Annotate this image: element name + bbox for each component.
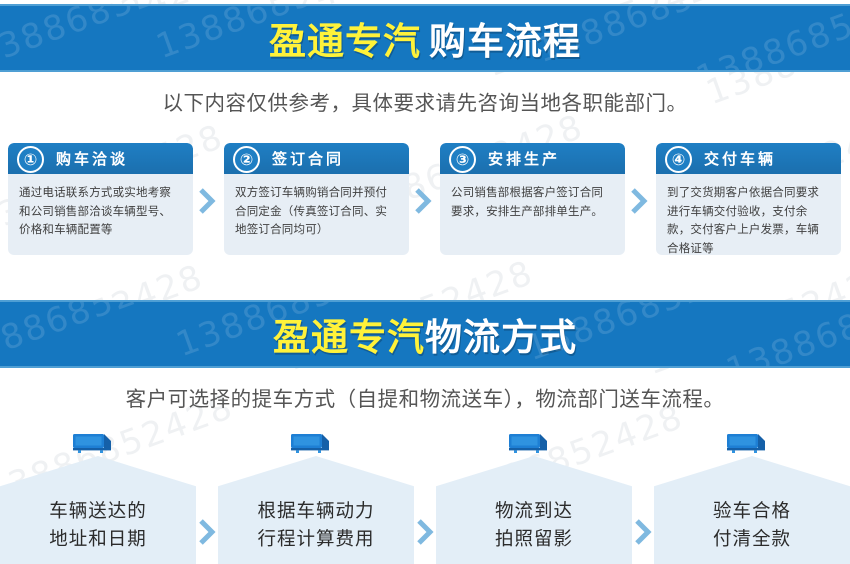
step-body-2: 双方签订车辆购销合同并预付合同定金（传真签订合同、实地签订合同均可） [224,174,409,239]
banner-logistics-title: 盈通专汽 物流方式 [0,302,850,366]
logistics-arrow-2-to-3 [416,518,434,546]
logistics-card-3-line1: 物流到达 [495,498,573,525]
step-card-3[interactable]: ③ 安排生产 公司销售部根据客户签订合同要求，安排生产部排单生产。 [440,143,625,255]
logistics-card-1-line1: 车辆送达的 [49,498,147,525]
truck-icon [506,430,556,458]
logistics-card-2-line1: 根据车辆动力 [257,498,374,525]
banner-purchase-title: 盈通专汽 购车流程 [0,6,850,70]
step-body-3: 公司销售部根据客户签订合同要求，安排生产部排单生产。 [440,174,625,220]
banner-logistics: 13886852428 13886852428 13886852428 1388… [0,300,850,368]
logistics-steps-row: 车辆送达的 地址和日期 根据车辆动力 行程计算费用 物流到达 拍照留影 [0,430,850,564]
logistics-card-4-line2: 付清全款 [713,526,791,553]
banner-purchase-process: 13886852428 13886852428 13886852428 1388… [0,4,850,72]
step-title-4: 交付车辆 [704,148,776,169]
truck-icon [724,430,774,458]
step-number-2: ② [233,146,260,173]
logistics-arrow-1-to-2 [198,518,216,546]
logistics-card-2-line2: 行程计算费用 [257,526,374,553]
step-body-4: 到了交货期客户依据合同要求进行车辆交付验收，支付余款，交付客户上户发票，车辆合格… [656,174,841,255]
banner-logistics-brand: 盈通专汽 [273,307,425,361]
logistics-card-3[interactable]: 物流到达 拍照留影 [436,456,632,564]
step-card-2-header: ② 签订合同 [224,143,409,174]
banner-purchase-heading: 购车流程 [429,11,581,65]
step-card-3-header: ③ 安排生产 [440,143,625,174]
logistics-card-1[interactable]: 车辆送达的 地址和日期 [0,456,196,564]
step-arrow-2-to-3 [414,187,432,215]
logistics-card-4[interactable]: 验车合格 付清全款 [654,456,850,564]
step-title-1: 购车洽谈 [56,148,128,169]
step-title-2: 签订合同 [272,148,344,169]
logistics-subtitle: 客户可选择的提车方式（自提和物流送车），物流部门送车流程。 [0,382,850,412]
logistics-card-1-line2: 地址和日期 [49,526,147,553]
logistics-arrow-3-to-4 [634,518,652,546]
truck-icon [288,430,338,458]
step-number-4: ④ [665,146,692,173]
purchase-subtitle: 以下内容仅供参考，具体要求请先咨询当地各职能部门。 [0,86,850,116]
step-card-4-header: ④ 交付车辆 [656,143,841,174]
step-arrow-1-to-2 [198,187,216,215]
step-arrow-3-to-4 [630,187,648,215]
logistics-card-3-line2: 拍照留影 [495,526,573,553]
banner-logistics-heading: 物流方式 [425,307,577,361]
step-title-3: 安排生产 [488,148,560,169]
step-number-1: ① [17,146,44,173]
step-card-1[interactable]: ① 购车洽谈 通过电话联系方式或实地考察和公司销售部洽谈车辆型号、价格和车辆配置… [8,143,193,255]
purchase-steps-row: ① 购车洽谈 通过电话联系方式或实地考察和公司销售部洽谈车辆型号、价格和车辆配置… [8,143,842,255]
step-card-4[interactable]: ④ 交付车辆 到了交货期客户依据合同要求进行车辆交付验收，支付余款，交付客户上户… [656,143,841,255]
logistics-card-2[interactable]: 根据车辆动力 行程计算费用 [218,456,414,564]
step-card-2[interactable]: ② 签订合同 双方签订车辆购销合同并预付合同定金（传真签订合同、实地签订合同均可… [224,143,409,255]
truck-icon [70,430,120,458]
step-card-1-header: ① 购车洽谈 [8,143,193,174]
step-body-1: 通过电话联系方式或实地考察和公司销售部洽谈车辆型号、价格和车辆配置等 [8,174,193,239]
logistics-card-4-line1: 验车合格 [713,498,791,525]
step-number-3: ③ [449,146,476,173]
banner-purchase-brand: 盈通专汽 [269,11,421,65]
